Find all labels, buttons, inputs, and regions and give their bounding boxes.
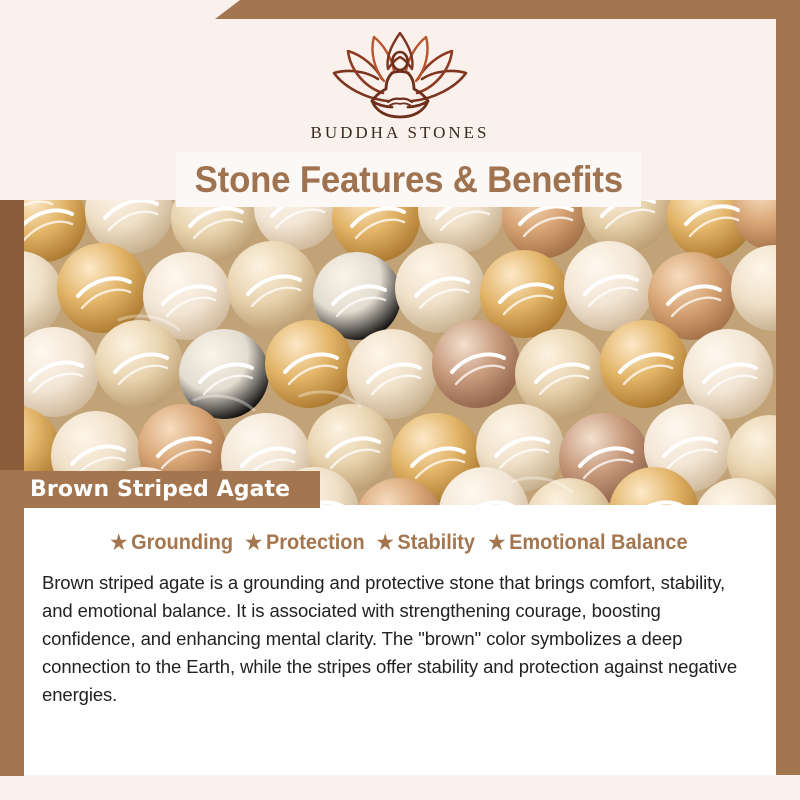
benefits-list: ★ Grounding ★ Protection ★ Stability ★ E… [24,505,776,555]
benefit-label: Emotional Balance [509,531,687,555]
star-icon: ★ [245,533,262,553]
benefit-label: Stability [397,531,475,555]
benefit-item-stability: ★ Stability [376,531,474,555]
benefit-label: Protection [266,531,365,555]
star-icon: ★ [376,533,393,553]
benefit-label: Grounding [131,531,233,555]
benefit-item-protection: ★ Protection [245,531,364,555]
star-icon: ★ [489,533,506,553]
star-icon: ★ [110,533,127,553]
frame-left-band-dark [0,200,24,470]
content-card: BUDDHA STONES [24,19,776,775]
frame-top-band [0,0,800,19]
stone-name-bar: Brown Striped Agate [24,471,320,508]
benefit-item-emotional-balance: ★ Emotional Balance [489,531,688,555]
section-title-banner: Stone Features & Benefits [176,152,641,207]
page-title: Stone Features & Benefits [194,159,622,201]
agate-beads-illustration [24,200,776,505]
brand-name: BUDDHA STONES [311,123,490,143]
product-photo [24,200,776,505]
stone-description: Brown striped agate is a grounding and p… [42,569,758,710]
lotus-meditation-icon [326,29,474,121]
infographic-page: BUDDHA STONES [0,0,800,800]
benefit-item-grounding: ★ Grounding [110,531,233,555]
brand-logo: BUDDHA STONES [24,29,776,143]
stone-name: Brown Striped Agate [24,477,290,502]
description-section: ★ Grounding ★ Protection ★ Stability ★ E… [24,505,776,775]
frame-right-band [776,0,800,775]
